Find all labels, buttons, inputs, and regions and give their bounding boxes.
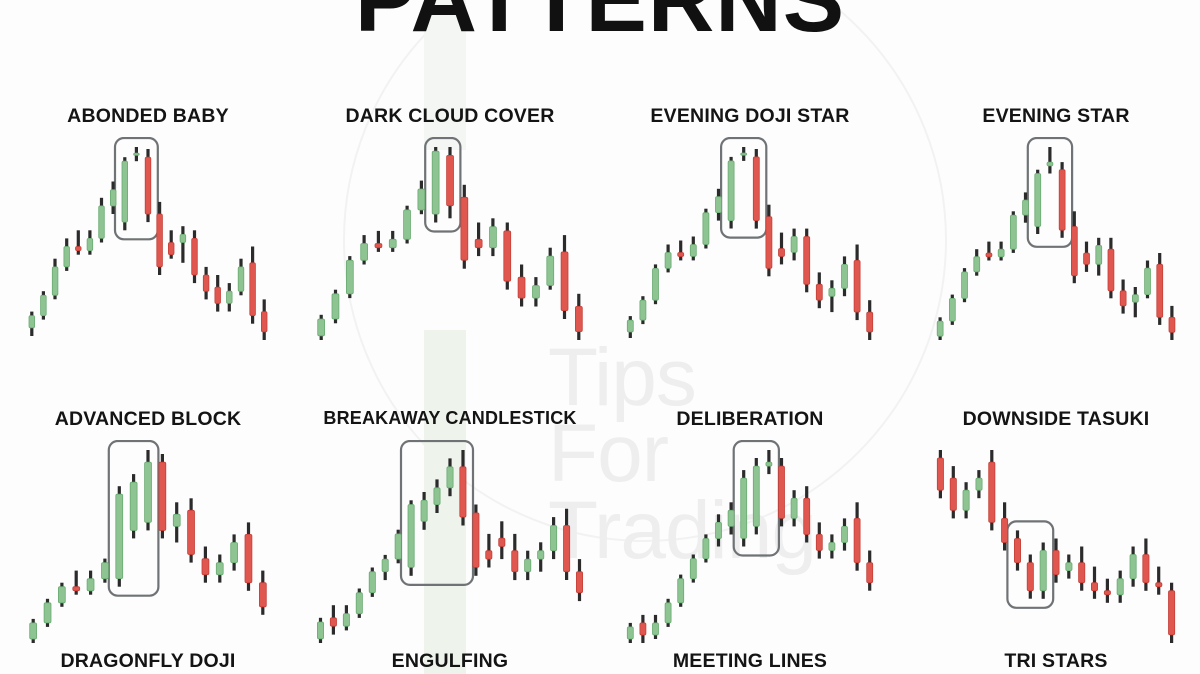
pattern-label: BREAKAWAY CANDLESTICK [300,408,600,429]
pattern-label: TRI STARS [920,650,1192,673]
pattern-label: MEETING LINES [610,650,890,673]
candlestick-chart [610,137,890,352]
pattern-label: ENGULFING [300,650,600,673]
pattern-label: DOWNSIDE TASUKI [920,408,1192,431]
page-title: PATTERNS [0,0,1200,53]
candlestick-chart [300,137,600,352]
candlestick-chart [12,440,284,655]
pattern-label: EVENING DOJI STAR [610,105,890,128]
candlestick-chart [920,440,1192,655]
pattern-label: DARK CLOUD COVER [300,105,600,128]
candlestick-chart [300,440,600,655]
pattern-label: ADVANCED BLOCK [12,408,284,431]
candlestick-chart [920,137,1192,352]
pattern-label: ABONDED BABY [12,105,284,128]
infographic-canvas: Tips For Trading PATTERNS ABONDED BABYDA… [0,0,1200,674]
pattern-label: DELIBERATION [610,408,890,431]
pattern-label: EVENING STAR [920,105,1192,128]
candlestick-chart [12,137,284,352]
candlestick-chart [610,440,890,655]
pattern-label: DRAGONFLY DOJI [12,650,284,673]
